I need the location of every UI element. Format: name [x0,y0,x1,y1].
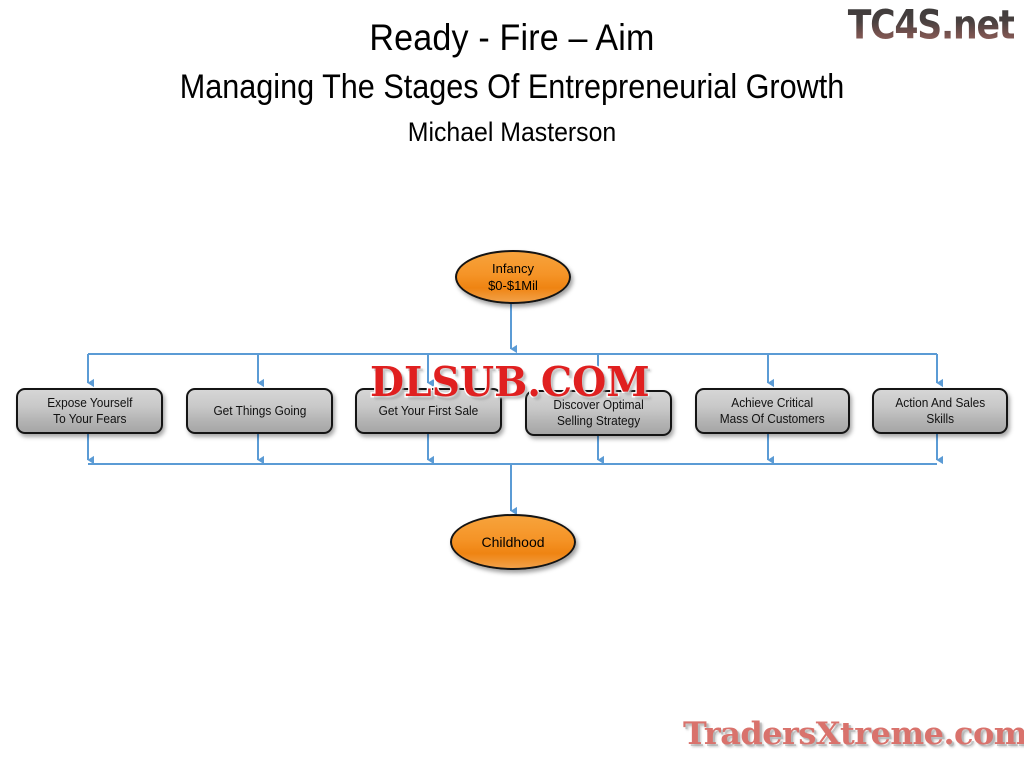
author-name: Michael Masterson [41,114,983,150]
stage-box-achieve-critical-mass-of-customers[interactable]: Achieve Critical Mass Of Customers [695,388,850,434]
stage-box-action-and-sales-skills[interactable]: Action And Sales Skills [872,388,1008,434]
stage-box-label-line1: Expose Yourself [47,395,132,411]
page-subtitle: Managing The Stages Of Entrepreneurial G… [51,65,973,109]
tradersxtreme-watermark: TradersXtreme.com [683,716,1024,752]
stage-box-label-line2: Skills [895,411,985,427]
dlsub-watermark-text: DLSUB.COM [370,357,650,406]
stage-box-label-line2: Mass Of Customers [720,411,825,427]
stage-box-label-line1: Achieve Critical [720,395,825,411]
stage-box-label-line1: Action And Sales [895,395,985,411]
dlsub-watermark: DLSUB.COM [370,357,650,406]
tradersxtreme-watermark-text: TradersXtreme.com [683,716,1024,752]
page-title: Ready - Fire – Aim [41,16,983,60]
slide-canvas: Ready - Fire – Aim Managing The Stages O… [0,0,1024,768]
node-infancy-label-2: $0-$1Mil [488,278,538,293]
node-childhood-label: Childhood [481,534,544,550]
stage-box-get-things-going[interactable]: Get Things Going [186,388,333,434]
stage-box-label-line2: Selling Strategy [553,413,643,429]
stage-box-label-line1: Get Things Going [213,403,306,419]
stage-box-expose-yourself-to-your-fears[interactable]: Expose Yourself To Your Fears [16,388,163,434]
node-infancy[interactable]: Infancy $0-$1Mil [455,250,571,304]
tc4s-logo: TC4S.net [848,2,1014,49]
node-childhood[interactable]: Childhood [450,514,576,570]
stage-box-label-line2: To Your Fears [47,411,132,427]
node-infancy-label-1: Infancy [492,261,534,276]
